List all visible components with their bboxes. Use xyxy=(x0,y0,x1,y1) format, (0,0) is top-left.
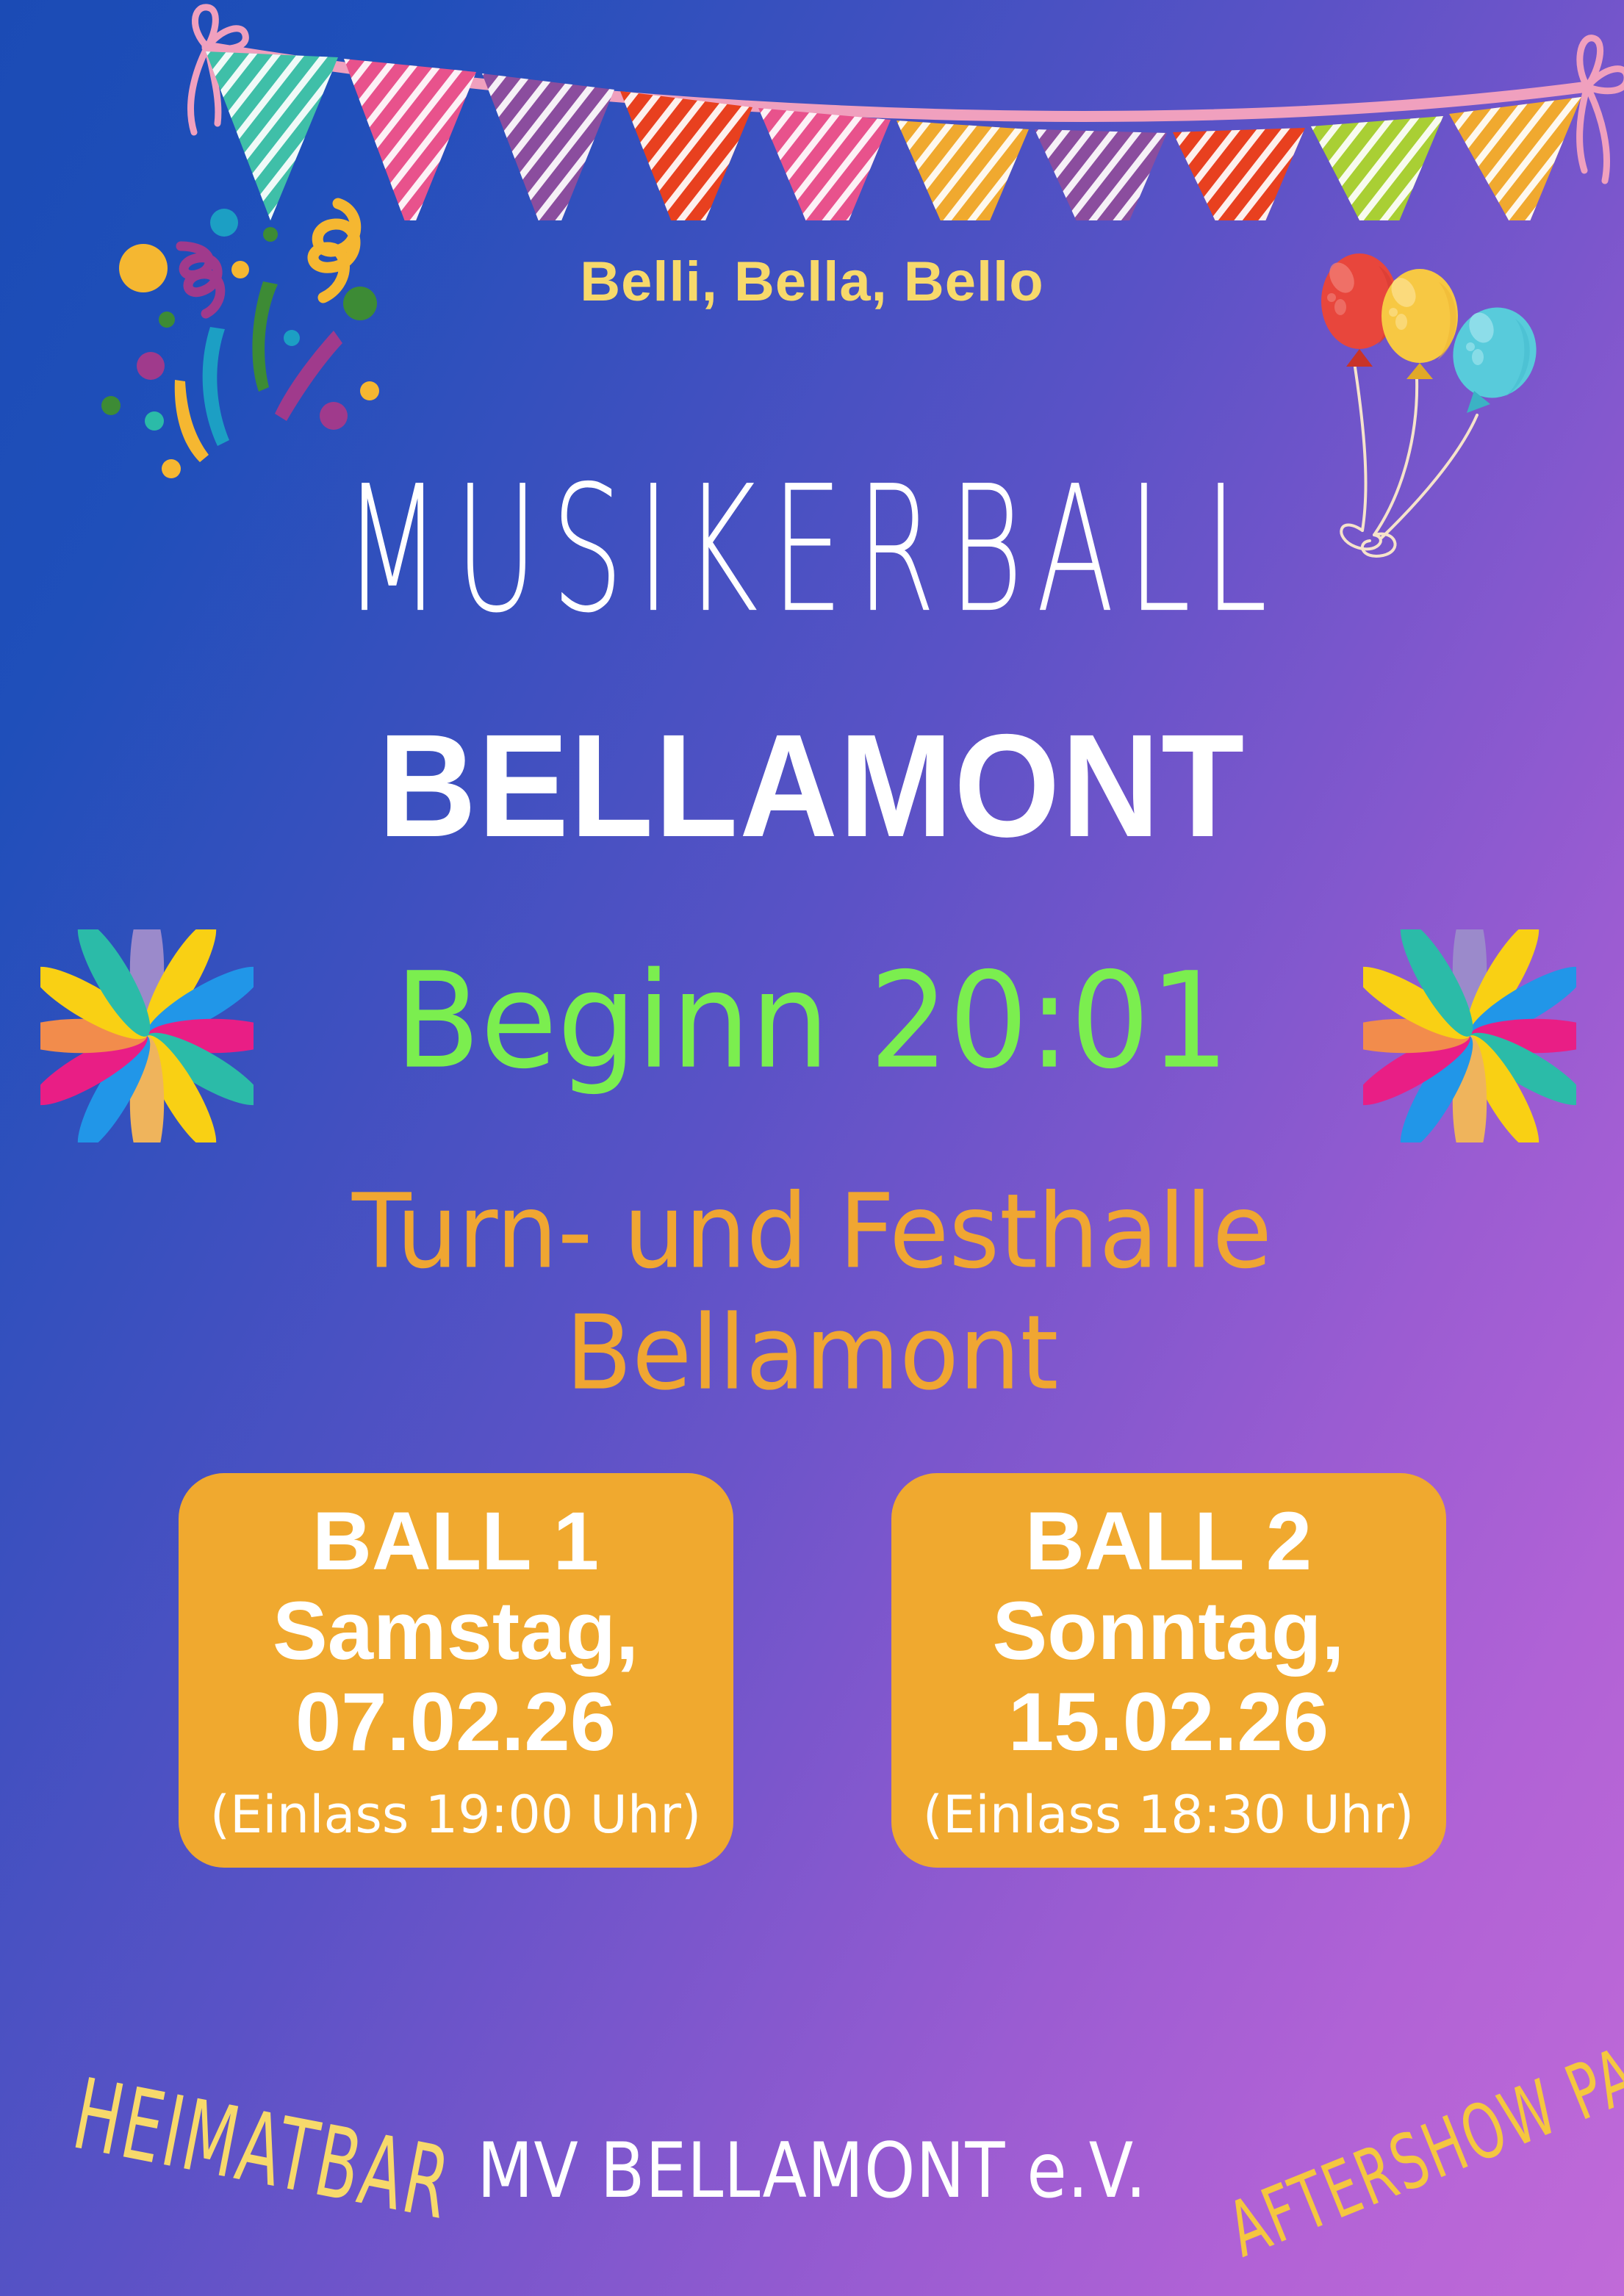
event-poster: Belli, Bella, Bello MUSIKERBALL BELLAMON… xyxy=(0,0,1624,2296)
ball-card-2[interactable]: BALL 2 Sonntag, 15.02.26 (Einlass 18:30 … xyxy=(891,1473,1446,1868)
bunting-flags xyxy=(198,44,1596,220)
confetti-dot xyxy=(210,209,238,237)
poster-title: MUSIKERBALL xyxy=(82,463,1543,637)
venue-line-1: Turn- und Festhalle xyxy=(0,1172,1624,1293)
confetti-streamer xyxy=(203,327,229,446)
ball-card-entry: (Einlass 19:00 Uhr) xyxy=(192,1784,720,1846)
confetti-dot xyxy=(101,396,121,415)
ball-card-date: 15.02.26 xyxy=(905,1676,1433,1768)
ball-card-title: BALL 1 xyxy=(192,1498,720,1586)
poster-location-title: BELLAMONT xyxy=(0,713,1624,859)
ball-card-title: BALL 2 xyxy=(905,1498,1433,1586)
bunting-right-bow xyxy=(1580,38,1624,181)
poster-venue: Turn- und Festhalle Bellamont xyxy=(0,1172,1624,1414)
ball-card-1[interactable]: BALL 1 Samstag, 07.02.26 (Einlass 19:00 … xyxy=(179,1473,733,1868)
ball-cards: BALL 1 Samstag, 07.02.26 (Einlass 19:00 … xyxy=(0,1473,1624,1868)
ball-card-date: 07.02.26 xyxy=(192,1676,720,1768)
confetti-dot xyxy=(137,352,165,380)
poster-start-time: Beginn 20:01 xyxy=(0,955,1624,1087)
confetti-dot xyxy=(320,402,348,430)
ball-card-day: Samstag, xyxy=(192,1586,720,1676)
confetti-dot xyxy=(263,227,278,242)
confetti-dot xyxy=(360,381,379,400)
confetti-dot xyxy=(159,312,175,328)
confetti-dot xyxy=(284,330,300,346)
ball-card-day: Sonntag, xyxy=(905,1586,1433,1676)
venue-line-2: Bellamont xyxy=(0,1293,1624,1414)
poster-tagline: Belli, Bella, Bello xyxy=(0,250,1624,314)
confetti-dot xyxy=(145,411,164,431)
ball-card-entry: (Einlass 18:30 Uhr) xyxy=(905,1784,1433,1846)
